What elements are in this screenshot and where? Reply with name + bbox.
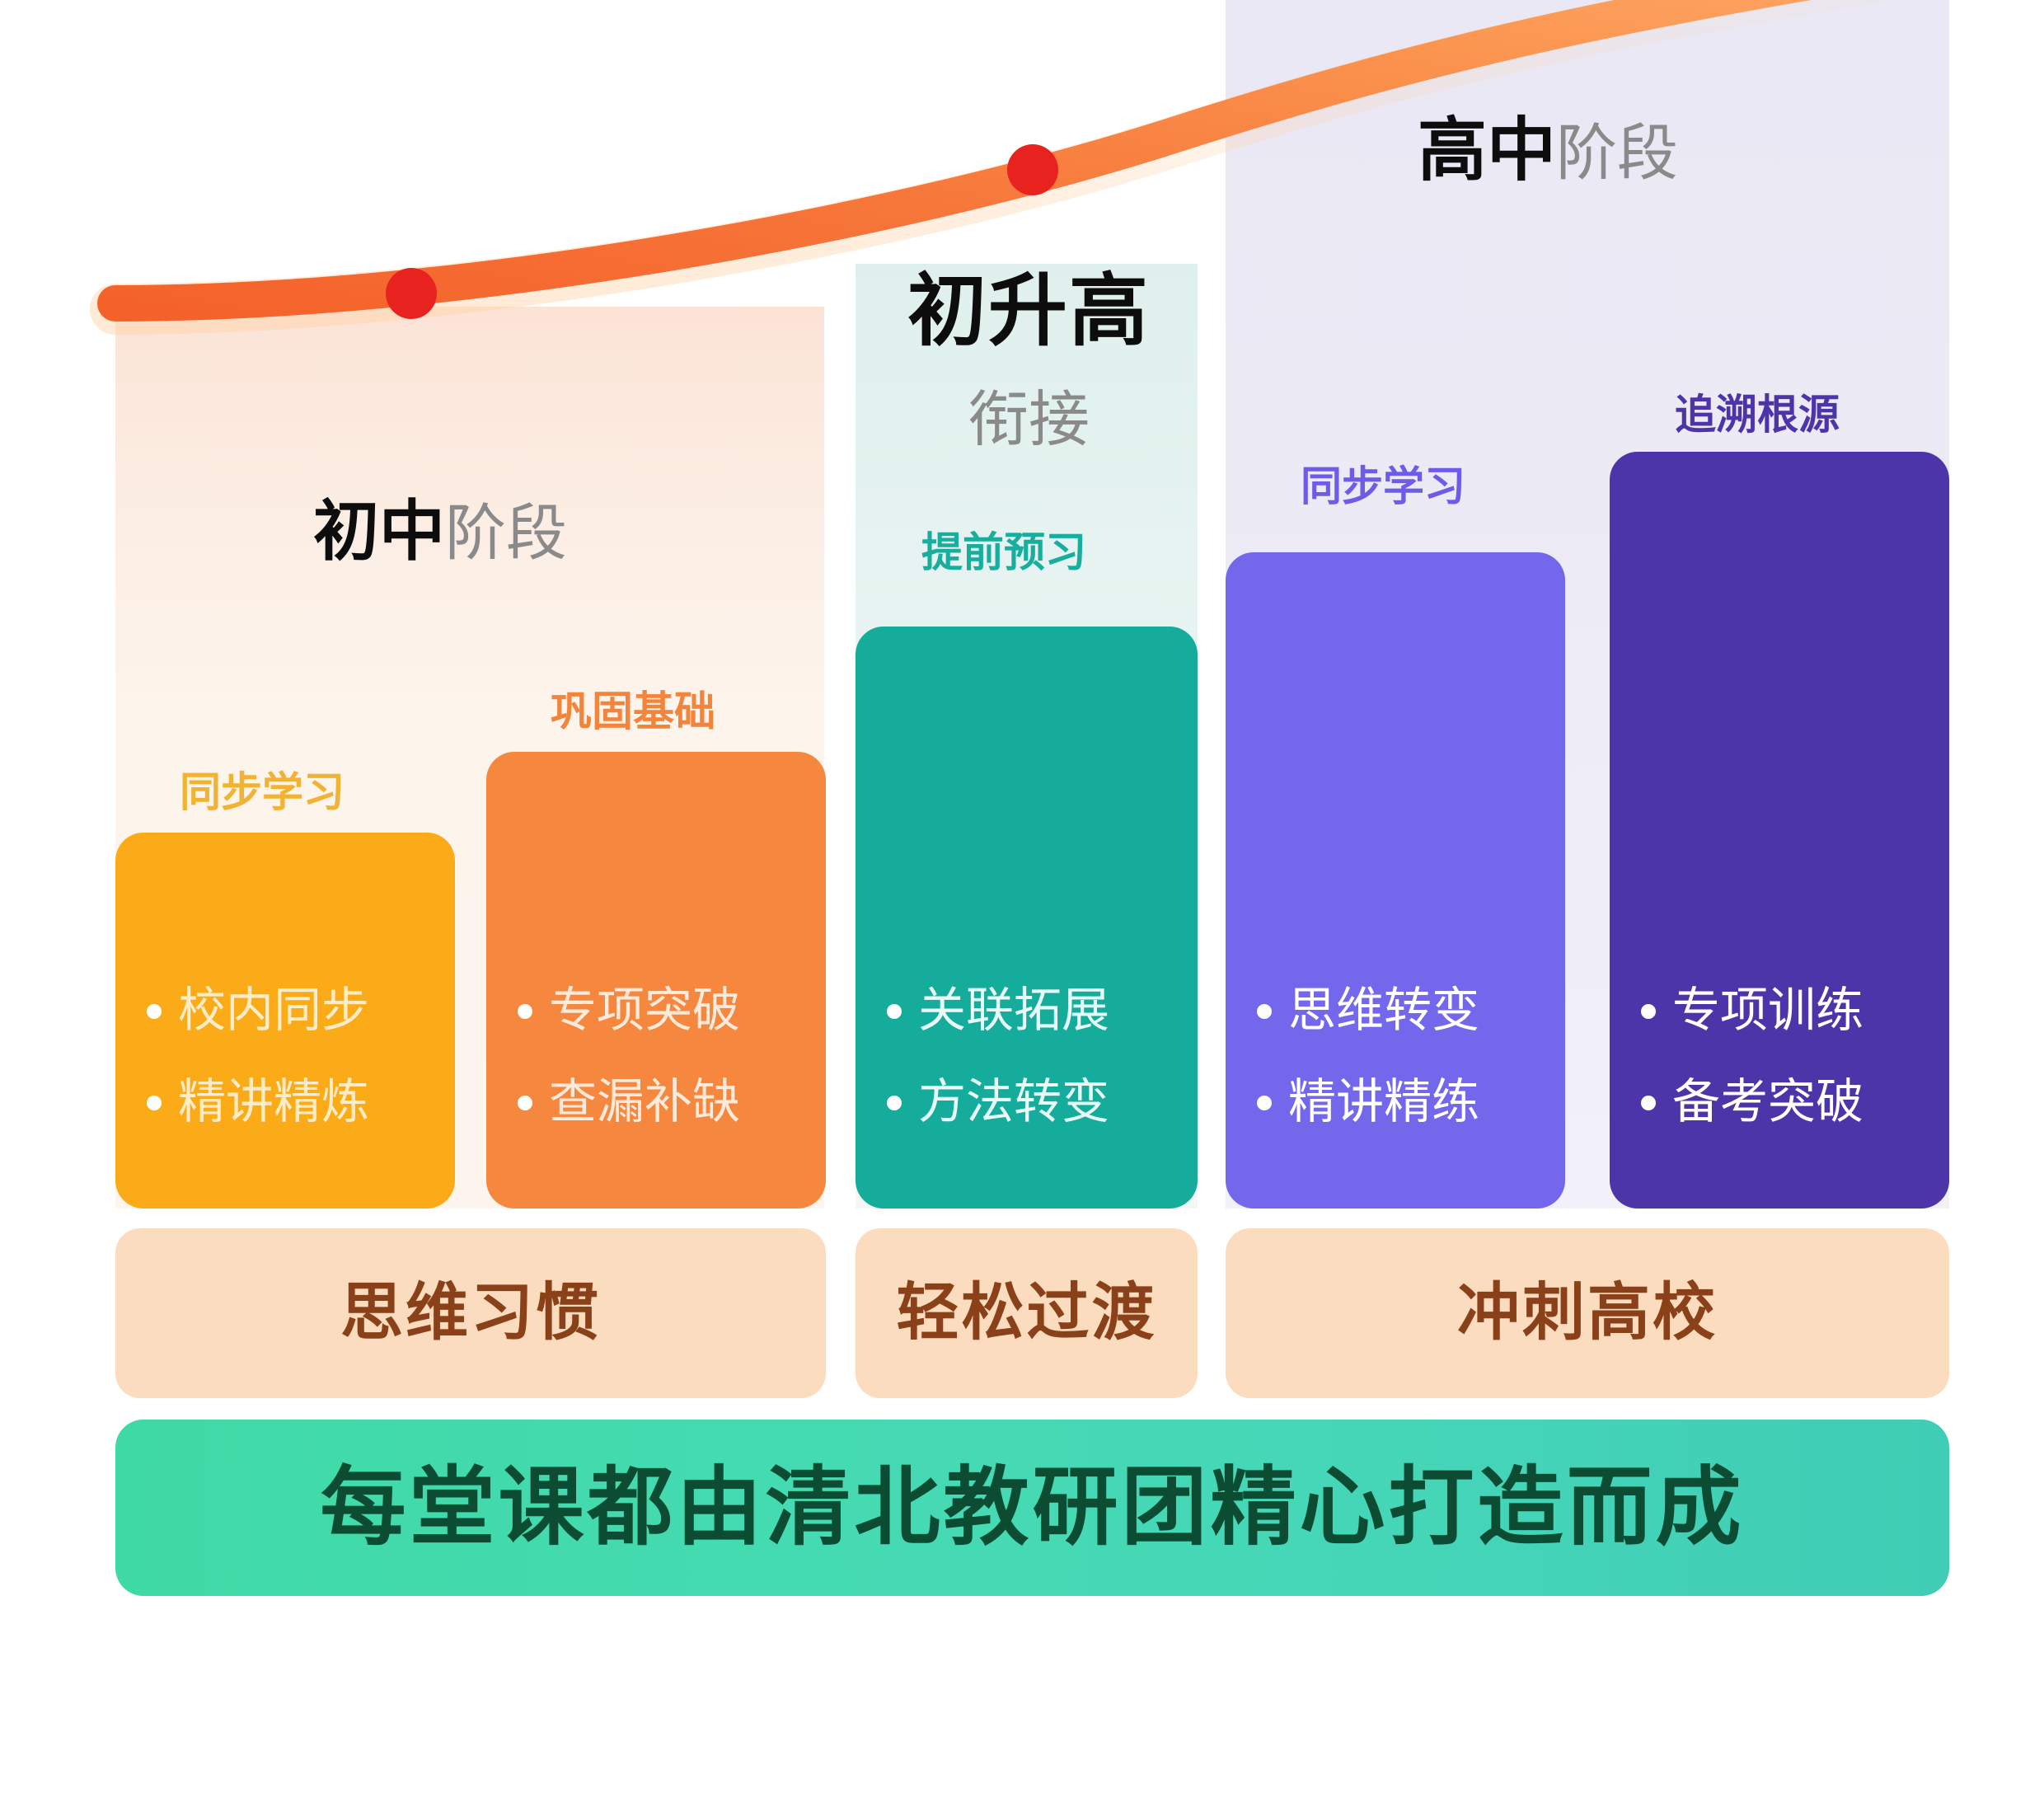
bullet-dot-icon: [1641, 1004, 1656, 1019]
list-item: 校内同步: [147, 984, 455, 1038]
pillar-kicker-basics: 巩固基础: [551, 691, 715, 732]
bullet-dot-icon: [147, 1096, 162, 1110]
list-item-label: 方法转变: [918, 1076, 1109, 1129]
pillar-card-sync-junior[interactable]: 校内同步 精讲精炼: [115, 833, 455, 1209]
stage-title-bridge-strong: 初升高: [897, 272, 1160, 351]
list-item-label: 关联拓展: [918, 984, 1109, 1038]
pillar-kicker-sync-junior: 同步学习: [180, 772, 345, 813]
bullet-dot-icon: [518, 1004, 532, 1019]
stage-title-bridge-soft: 衔接: [897, 389, 1160, 450]
pillar-kicker-sync-senior: 同步学习: [1301, 466, 1465, 507]
pillar-card-root[interactable]: 专项训练 备考突破: [1610, 452, 1949, 1209]
footer-banner[interactable]: 每堂课都由清北教研团精心打造而成: [115, 1420, 1949, 1596]
pillar-bullet-list: 专项突破 查漏补缺: [518, 984, 826, 1129]
footer-banner-label: 每堂课都由清北教研团精心打造而成: [320, 1465, 1744, 1551]
list-item: 精讲精练: [1257, 1076, 1565, 1129]
outcome-bar-senior[interactable]: 冲刺高校: [1226, 1228, 1949, 1398]
bullet-dot-icon: [1641, 1096, 1656, 1110]
list-item-label: 专项突破: [549, 984, 740, 1038]
list-item-label: 精讲精炼: [178, 1076, 369, 1129]
outcome-bar-label: 思维习惯: [340, 1282, 601, 1345]
pillar-kicker-preview: 提前预习: [921, 532, 1086, 573]
list-item-label: 备考突破: [1672, 1076, 1864, 1129]
infographic-stage: 初中阶段 初升高 衔接 高中阶段 同步学习 巩固基础 提前预习 同步学习 追溯根…: [0, 0, 2044, 1807]
stage-title-junior-soft: 阶段: [445, 499, 567, 567]
pillar-kicker-root: 追溯根源: [1675, 394, 1840, 435]
bullet-dot-icon: [518, 1096, 532, 1110]
bullet-dot-icon: [887, 1096, 902, 1110]
list-item-label: 查漏补缺: [549, 1076, 740, 1129]
list-item: 备考突破: [1641, 1076, 1949, 1129]
pillar-bullet-list: 专项训练 备考突破: [1641, 984, 1949, 1129]
stage-title-bridge: 初升高: [897, 272, 1160, 351]
growth-marker-bridge: [1007, 144, 1058, 195]
stage-title-senior-strong: 高中: [1418, 111, 1556, 189]
bullet-dot-icon: [1257, 1004, 1272, 1019]
list-item: 查漏补缺: [518, 1076, 826, 1129]
pillar-bullet-list: 校内同步 精讲精炼: [147, 984, 455, 1129]
list-item-label: 专项训练: [1672, 984, 1864, 1038]
stage-title-junior: 初中阶段: [313, 499, 567, 565]
bullet-dot-icon: [1257, 1096, 1272, 1110]
outcome-bar-junior[interactable]: 思维习惯: [115, 1228, 826, 1398]
list-item-label: 精讲精练: [1288, 1076, 1479, 1129]
stage-title-senior-soft: 阶段: [1556, 119, 1678, 187]
stage-title-junior-strong: 初中: [313, 495, 445, 568]
pillar-card-preview[interactable]: 关联拓展 方法转变: [856, 627, 1198, 1209]
list-item: 思维转变: [1257, 984, 1565, 1038]
bullet-dot-icon: [887, 1004, 902, 1019]
list-item: 精讲精炼: [147, 1076, 455, 1129]
list-item: 方法转变: [887, 1076, 1198, 1129]
outcome-bar-label: 冲刺高校: [1457, 1282, 1718, 1345]
stage-title-senior: 高中阶段: [1418, 115, 1678, 185]
pillar-card-basics[interactable]: 专项突破 查漏补缺: [486, 752, 826, 1209]
list-item-label: 校内同步: [178, 984, 369, 1038]
pillar-card-sync-senior[interactable]: 思维转变 精讲精练: [1226, 552, 1565, 1209]
outcome-bar-label: 轻松过渡: [897, 1282, 1157, 1345]
list-item: 专项突破: [518, 984, 826, 1038]
pillar-bullet-list: 关联拓展 方法转变: [887, 984, 1198, 1129]
growth-marker-junior: [386, 268, 437, 319]
list-item: 关联拓展: [887, 984, 1198, 1038]
bullet-dot-icon: [147, 1004, 162, 1019]
pillar-bullet-list: 思维转变 精讲精练: [1257, 984, 1565, 1129]
list-item-label: 思维转变: [1288, 984, 1479, 1038]
list-item: 专项训练: [1641, 984, 1949, 1038]
outcome-bar-bridge[interactable]: 轻松过渡: [856, 1228, 1198, 1398]
